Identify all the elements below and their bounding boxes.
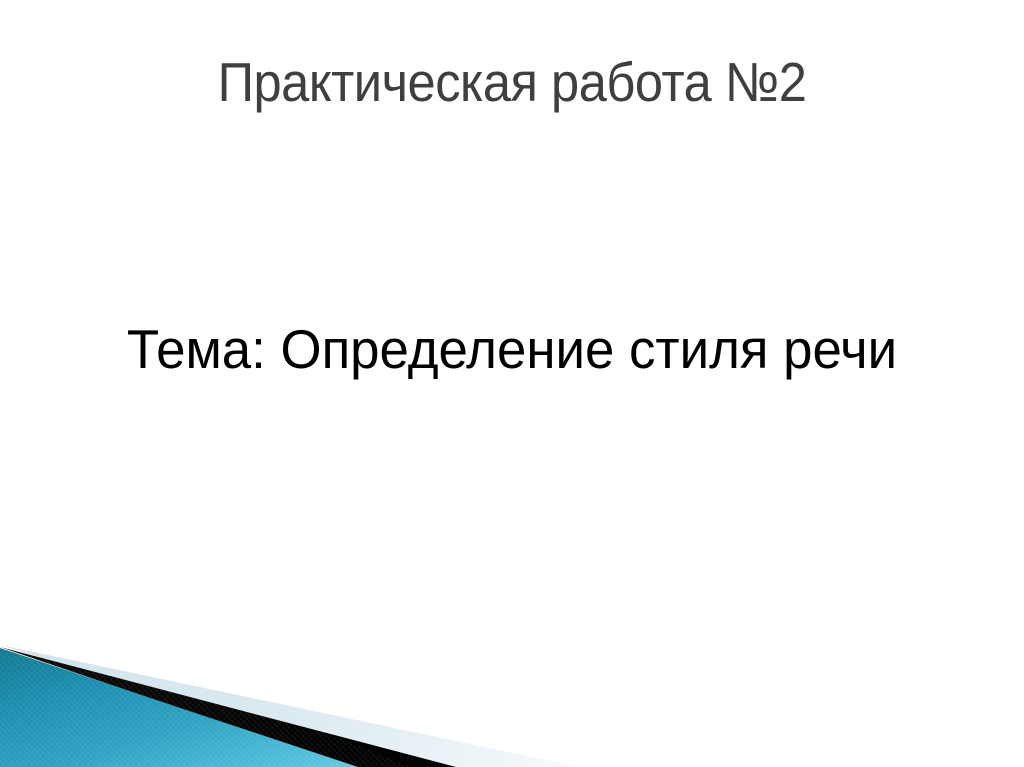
slide-subtitle: Тема: Определение стиля речи [20,318,1003,381]
corner-decoration-graphic [0,597,1024,767]
pale-blue-band [0,645,580,767]
teal-wedge-texture [0,597,420,767]
black-diagonal-stripe [0,647,456,767]
teal-wedge [0,648,358,767]
presentation-slide: Практическая работа №2 Тема: Определение… [0,0,1024,767]
slide-title: Практическая работа №2 [41,52,983,113]
corner-decoration-svg [0,597,1024,767]
